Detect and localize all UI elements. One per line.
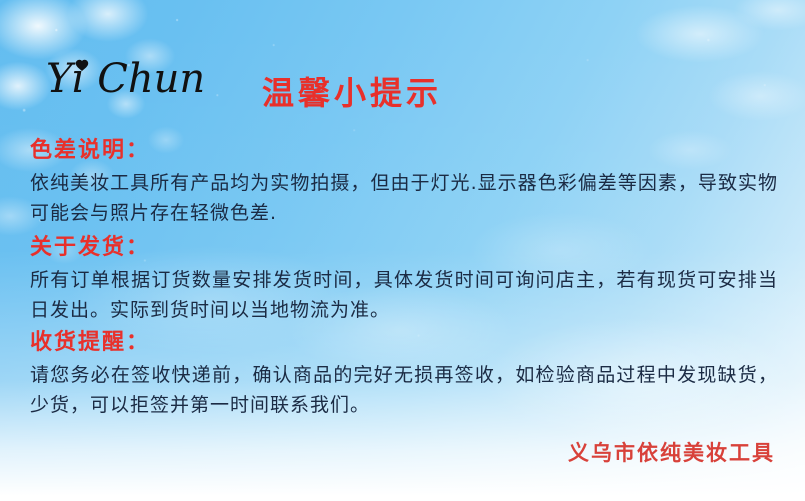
section-heading-receipt: 收货提醒：: [30, 330, 778, 356]
brand-logo-text: Yi Chun: [46, 56, 205, 102]
page-title: 温馨小提示: [262, 68, 442, 114]
brand-logo: Yi Chun: [46, 52, 246, 106]
section-heading-shipping: 关于发货：: [30, 235, 778, 261]
section-color-diff: 色差说明： 依纯美妆工具所有产品均为实物拍摄，但由于灯光.显示器色彩偏差等因素，…: [30, 138, 778, 228]
section-receipt: 收货提醒： 请您务必在签收快递前，确认商品的完好无损再签收，如检验商品过程中发现…: [30, 330, 778, 420]
section-shipping: 关于发货： 所有订单根据订货数量安排发货时间，具体发货时间可询问店主，若有现货可…: [30, 235, 778, 325]
company-signature: 义乌市依纯美妆工具: [568, 437, 775, 467]
section-body-shipping: 所有订单根据订货数量安排发货时间，具体发货时间可询问店主，若有现货可安排当日发出…: [30, 265, 778, 325]
section-heading-color-diff: 色差说明：: [30, 138, 778, 164]
section-body-color-diff: 依纯美妆工具所有产品均为实物拍摄，但由于灯光.显示器色彩偏差等因素，导致实物可能…: [30, 168, 778, 228]
promo-banner: Yi Chun 温馨小提示 色差说明： 依纯美妆工具所有产品均为实物拍摄，但由于…: [0, 0, 805, 501]
section-body-receipt: 请您务必在签收快递前，确认商品的完好无损再签收，如检验商品过程中发现缺货，少货，…: [30, 360, 778, 420]
